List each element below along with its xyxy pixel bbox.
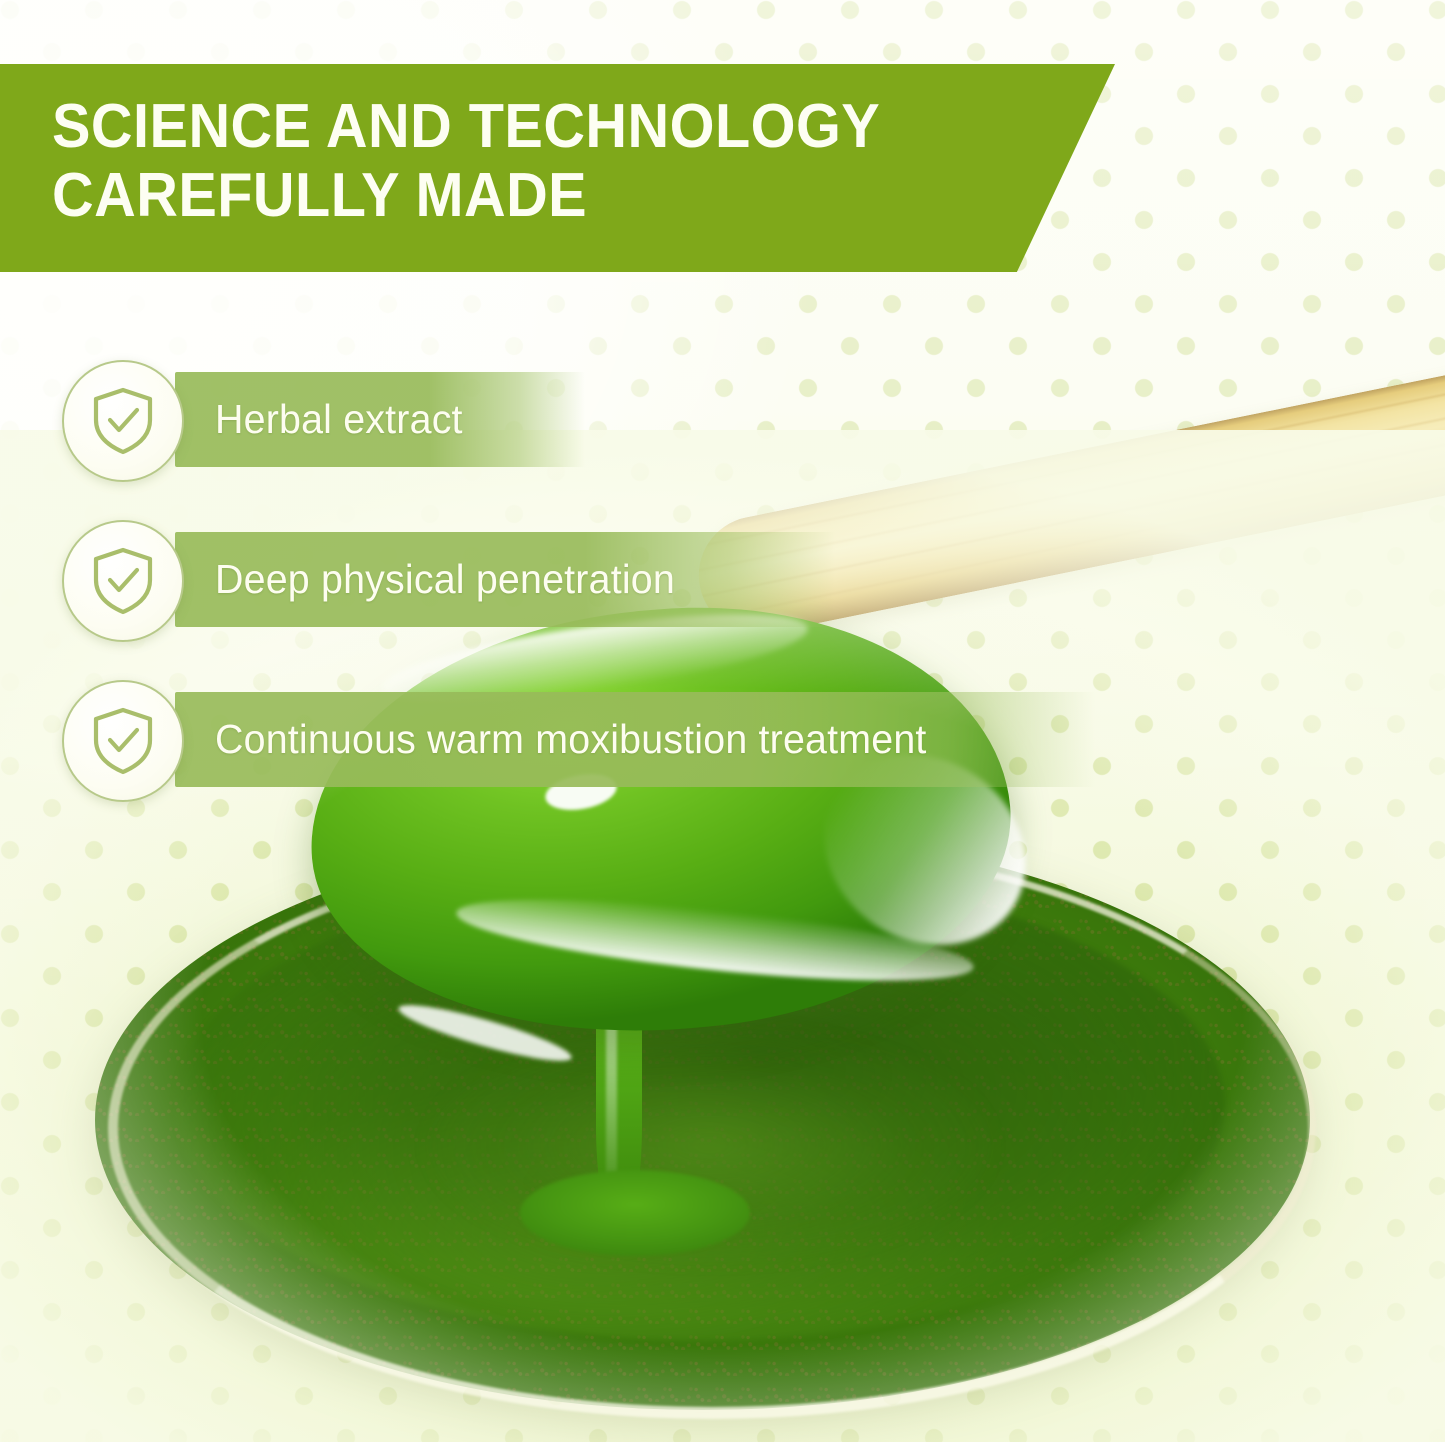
shield-check-icon: [62, 520, 184, 642]
paste-specular-highlight-2: [395, 996, 575, 1071]
paste-drip-highlight: [606, 990, 617, 1190]
feature-item-herbal-extract[interactable]: Herbal extract: [0, 360, 1200, 520]
page-title: SCIENCE AND TECHNOLOGY CAREFULLY MADE: [52, 92, 982, 231]
feature-list: Herbal extract Deep physical penetration…: [0, 360, 1200, 840]
shield-check-icon: [62, 360, 184, 482]
feature-label: Deep physical penetration: [215, 532, 675, 627]
ceramic-bowl: [95, 830, 1310, 1410]
feature-item-continuous-warm-moxibustion-treatment[interactable]: Continuous warm moxibustion treatment: [0, 680, 1200, 840]
shield-check-icon: [62, 680, 184, 802]
feature-label: Continuous warm moxibustion treatment: [215, 692, 927, 787]
feature-label: Herbal extract: [215, 372, 463, 467]
bowl-rim-speckle: [95, 830, 1310, 1410]
shield-check-glyph: [90, 706, 156, 776]
shield-check-glyph: [90, 386, 156, 456]
feature-item-deep-physical-penetration[interactable]: Deep physical penetration: [0, 520, 1200, 680]
bowl-rim-highlight: [108, 838, 1316, 1419]
shield-check-glyph: [90, 546, 156, 616]
paste-drip-splash: [520, 1170, 750, 1256]
green-paste-pool: [175, 870, 1225, 1340]
paste-gloss-rim: [453, 883, 976, 997]
paste-drip: [596, 982, 642, 1222]
product-feature-poster: SCIENCE AND TECHNOLOGY CAREFULLY MADE He…: [0, 0, 1445, 1442]
paste-pool-swirl: [430, 1030, 990, 1260]
